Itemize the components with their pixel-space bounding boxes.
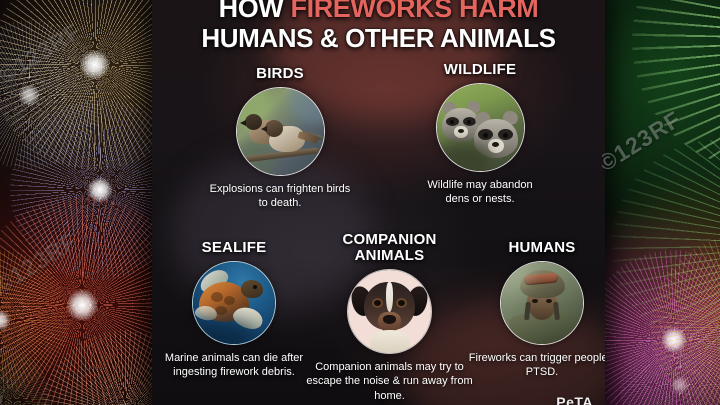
title-line-2: HUMANS & OTHER ANIMALS <box>152 25 605 52</box>
section-companion-animals: COMPANION ANIMALS Companion animals may … <box>297 232 482 403</box>
photo-sealife <box>192 261 276 345</box>
firework-burst-magenta-icon <box>602 250 720 405</box>
firework-burst-red-icon <box>0 195 162 405</box>
background-fireworks-right: ©123RF <box>602 0 720 405</box>
section-heading-companion-line1: COMPANION <box>297 232 482 248</box>
firework-burst-gold-icon <box>0 0 162 170</box>
peta-logo-text: PeTA <box>556 394 593 405</box>
firework-burst-gold-lower-icon <box>40 330 162 405</box>
title-plain: HOW <box>219 0 291 23</box>
background-fireworks-left: ©123RF ©123RF <box>0 0 162 405</box>
stock-watermark-left: ©123RF <box>0 18 86 90</box>
firework-burst-white-right-icon <box>620 325 720 405</box>
section-humans: HUMANS Fireworks can trigger peoples' PT… <box>462 240 605 379</box>
firework-burst-orange-right-icon <box>650 235 720 405</box>
caption-birds: Explosions can frighten birds to death. <box>190 182 370 210</box>
infographic-panel: HOW FIREWORKS HARM HUMANS & OTHER ANIMAL… <box>152 0 605 405</box>
caption-wildlife: Wildlife may abandon dens or nests. <box>390 178 570 206</box>
title-highlight: FIREWORKS HARM <box>291 0 539 23</box>
infographic-canvas: ©123RF ©123RF ©123RF HOW FIREWORKS HARM … <box>0 0 720 405</box>
section-sealife: SEALIFE Marine animals can die after ing… <box>152 240 318 379</box>
caption-sealife: Marine animals can die after ingesting f… <box>152 351 318 379</box>
photo-humans <box>500 261 584 345</box>
photo-birds <box>236 87 325 176</box>
section-birds: BIRDS <box>190 66 370 210</box>
section-heading-humans: HUMANS <box>462 240 605 256</box>
firework-fan-green-2-icon <box>612 140 720 350</box>
title-block: HOW FIREWORKS HARM HUMANS & OTHER ANIMAL… <box>152 0 605 51</box>
section-heading-companion-line2: ANIMALS <box>297 248 482 264</box>
firework-burst-green-left-icon <box>0 345 50 405</box>
section-heading-wildlife: WILDLIFE <box>390 62 570 78</box>
section-heading-birds: BIRDS <box>190 66 370 82</box>
stock-watermark-right: ©123RF <box>602 106 686 178</box>
caption-companion-animals: Companion animals may try to escape the … <box>297 360 482 402</box>
section-heading-sealife: SEALIFE <box>152 240 318 256</box>
section-wildlife: WILDLIFE <box>390 62 570 206</box>
photo-companion-animals <box>347 269 432 354</box>
photo-wildlife <box>436 83 525 172</box>
peta-logo[interactable]: PeTA <box>556 394 593 405</box>
stock-watermark-left-2: ©123RF <box>0 228 82 300</box>
title-line-1: HOW FIREWORKS HARM <box>152 0 605 23</box>
caption-humans: Fireworks can trigger peoples' PTSD. <box>462 351 605 379</box>
